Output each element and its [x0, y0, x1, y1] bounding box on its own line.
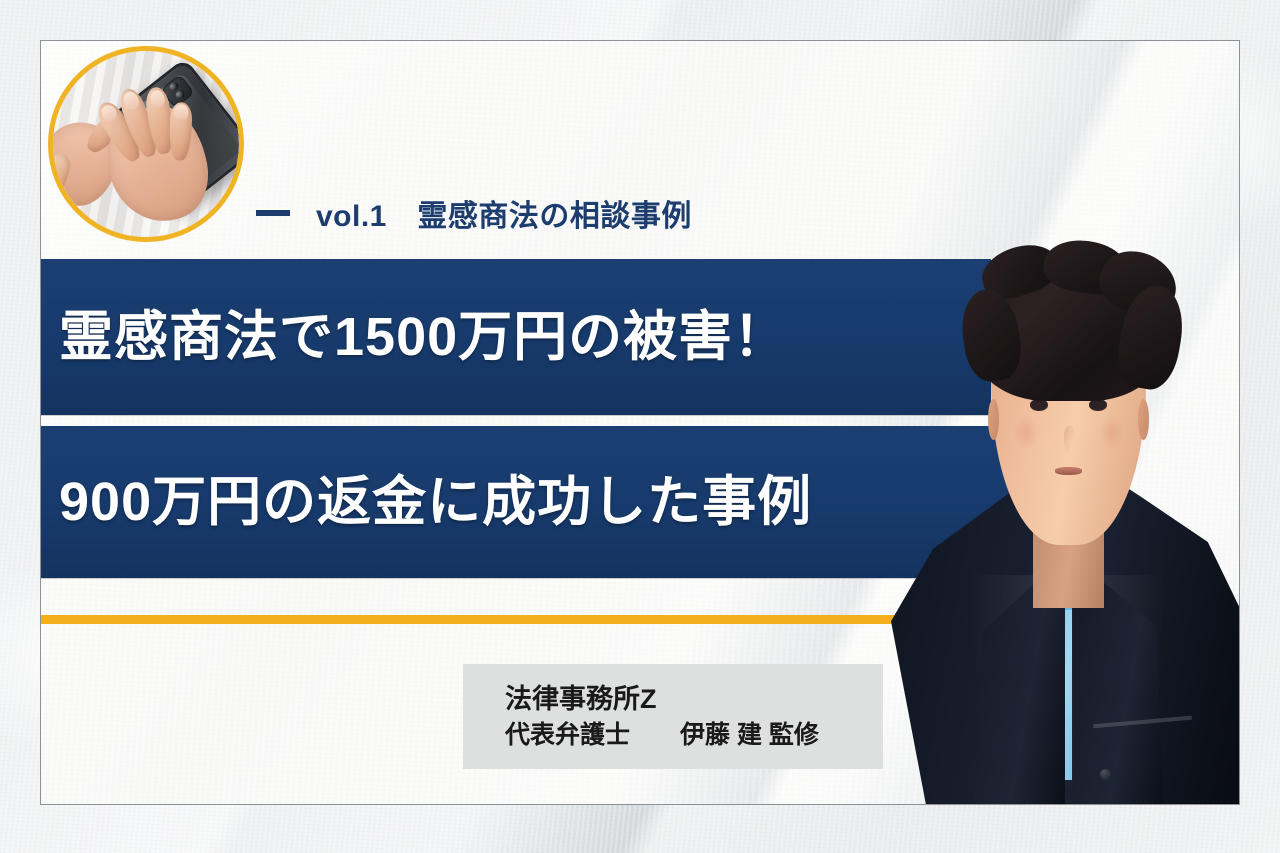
hands-holding-smartphone-photo	[48, 46, 244, 242]
attribution-lawyer: 代表弁護士 伊藤 建 監修	[505, 718, 883, 753]
gold-divider	[41, 615, 921, 624]
vol-label-row: vol.1 霊感商法の相談事例	[256, 191, 692, 235]
banner-image: vol.1 霊感商法の相談事例 霊感商法で1500万円の被害！ 900万円の返金…	[0, 0, 1280, 853]
headline-primary-text: 霊感商法で1500万円の被害！	[41, 310, 788, 364]
attribution-firm: 法律事務所Z	[505, 681, 883, 718]
em-dash-icon	[256, 210, 290, 216]
headline-bar-primary: 霊感商法で1500万円の被害！	[41, 259, 991, 415]
headline-secondary-text: 900万円の返金に成功した事例	[41, 475, 812, 529]
framed-card: vol.1 霊感商法の相談事例 霊感商法で1500万円の被害！ 900万円の返金…	[40, 40, 1240, 805]
lawyer-portrait-photo	[889, 237, 1240, 805]
vol-label: vol.1 霊感商法の相談事例	[316, 191, 692, 235]
attribution-plate: 法律事務所Z 代表弁護士 伊藤 建 監修	[463, 664, 883, 769]
